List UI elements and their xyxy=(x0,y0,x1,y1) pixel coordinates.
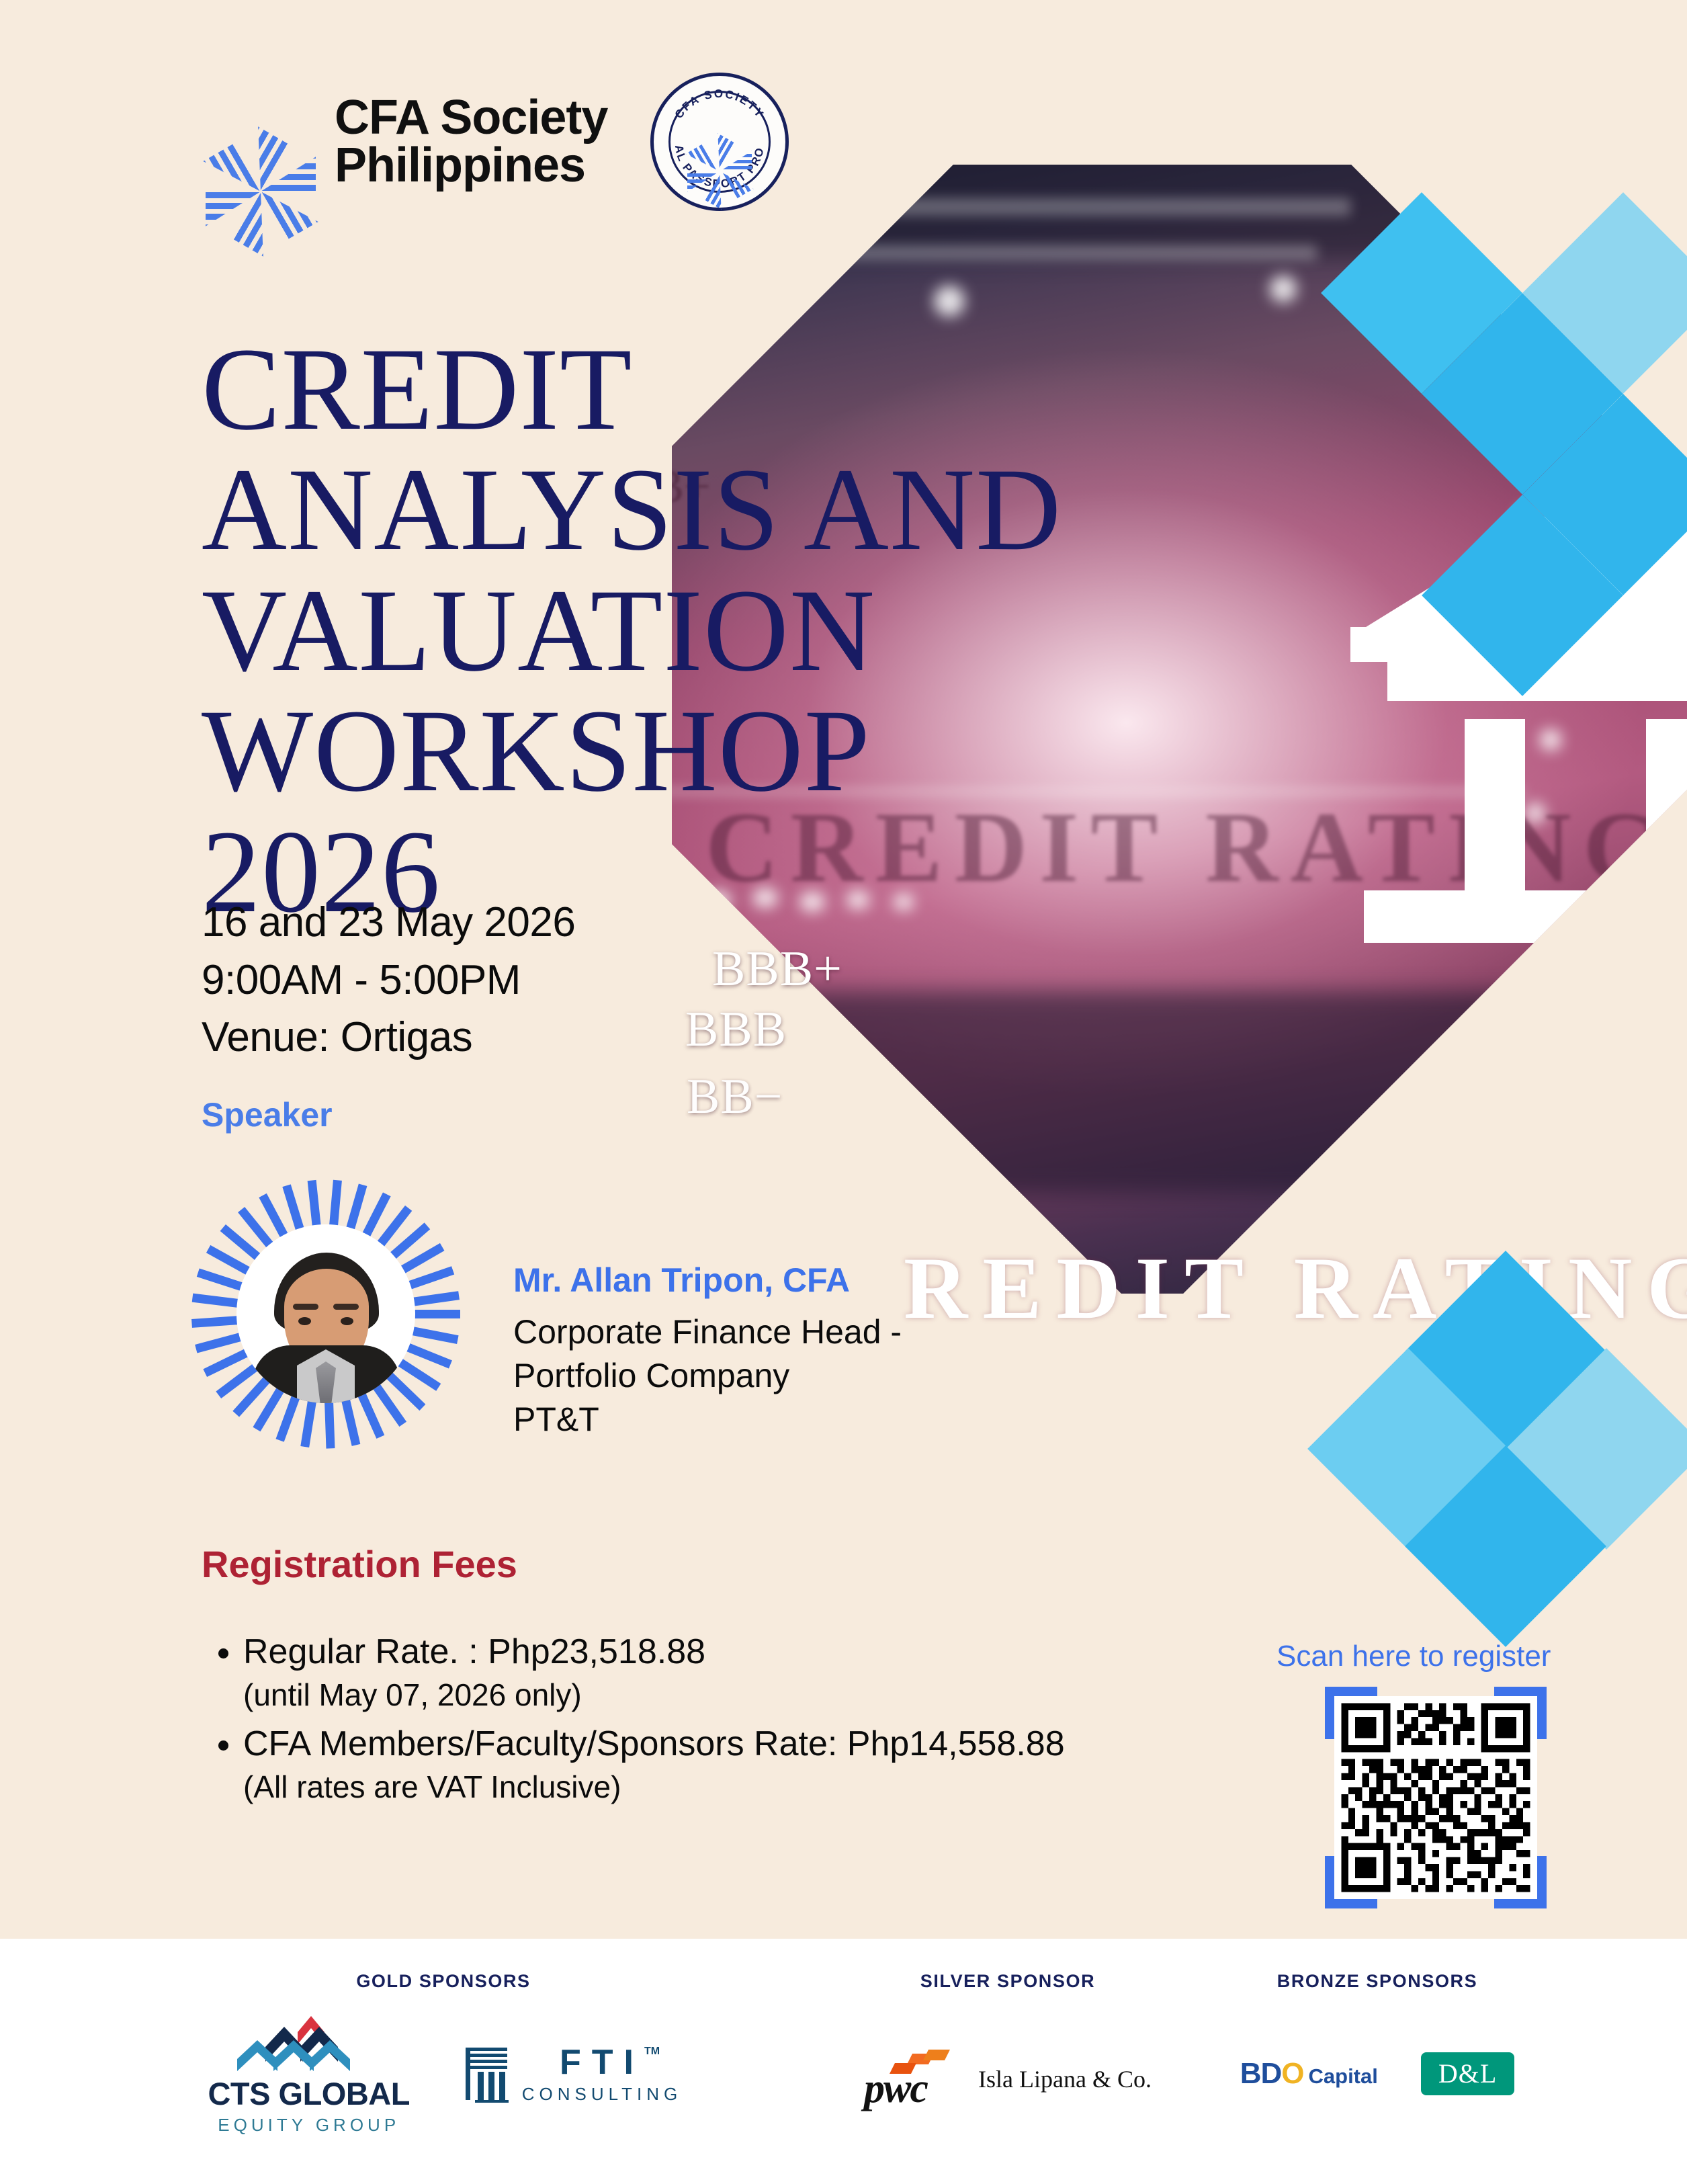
decor-diamond xyxy=(1422,293,1623,495)
blur-bar xyxy=(793,245,1317,260)
bank-column xyxy=(1646,719,1687,894)
credit-grade-bb-minus: BB− xyxy=(687,1068,783,1126)
decor-diamond xyxy=(1506,1348,1687,1550)
bank-column xyxy=(1465,719,1525,894)
pwc-wordmark: pwc xyxy=(864,2065,927,2113)
bank-icon xyxy=(1350,427,1687,816)
registration-fees-list: Regular Rate. : Php23,518.88 (until May … xyxy=(202,1630,1251,1814)
fti-subtitle: CONSULTING xyxy=(522,2085,683,2103)
bokeh-light xyxy=(934,286,965,317)
bokeh-light xyxy=(1270,276,1297,302)
sponsor-logo-dl: D&L xyxy=(1421,2052,1514,2095)
speaker-sunburst-icon xyxy=(195,1183,457,1445)
speaker-block: Mr. Allan Tripon, CFA Corporate Finance … xyxy=(195,1183,902,1445)
cfa-wordmark-line1: CFA Society xyxy=(335,94,607,142)
speaker-role-line2: Portfolio Company xyxy=(513,1354,902,1398)
poster-canvas: CREDIT RATING BBB+ BBB+ BBB BB− REDIT RA… xyxy=(0,0,1687,2184)
fti-name: FTITM xyxy=(522,2045,683,2080)
title-line-1: CREDIT xyxy=(202,329,1088,450)
avatar-eye-right xyxy=(341,1317,353,1325)
sponsors-footer: GOLD SPONSORS CTS GLOBAL xyxy=(0,1939,1687,2184)
bokeh-light xyxy=(1525,803,1545,823)
credit-grade-bbb-plus: BBB+ xyxy=(712,941,842,998)
bdo-bd-text: BD xyxy=(1240,2057,1282,2090)
decor-diamond xyxy=(1522,394,1687,595)
fti-trademark: TM xyxy=(644,2046,660,2057)
event-dates: 16 and 23 May 2026 xyxy=(202,894,575,952)
cfa-wordmark-line2: Philippines xyxy=(335,142,607,190)
bokeh-light xyxy=(1530,655,1551,675)
fee-item: CFA Members/Faculty/Sponsors Rate: Php14… xyxy=(243,1722,1251,1807)
event-details: 16 and 23 May 2026 9:00AM - 5:00PM Venue… xyxy=(202,894,575,1066)
page-title: CREDIT ANALYSIS AND VALUATION WORKSHOP 2… xyxy=(202,329,1088,933)
bank-architrave xyxy=(1387,662,1687,701)
avatar-brow-right xyxy=(333,1304,359,1310)
title-line-2: ANALYSIS AND xyxy=(202,450,1088,571)
global-passport-seal: CFA SOCIETY GLOBAL PASSPORT PROGRAM xyxy=(650,73,789,211)
cfa-pinwheel-icon xyxy=(202,83,320,201)
avatar-eye-left xyxy=(298,1317,311,1325)
registration-fees-title: Registration Fees xyxy=(202,1542,517,1586)
fti-name-text: FTI xyxy=(560,2043,644,2082)
qr-code-block[interactable] xyxy=(1325,1687,1547,1908)
bank-roof xyxy=(1364,427,1687,628)
decor-diamond xyxy=(1405,1445,1606,1647)
credit-rating-text: REDIT RATING xyxy=(904,1236,1687,1339)
bronze-sponsors-heading: BRONZE SPONSORS xyxy=(1142,1971,1612,1992)
speaker-name: Mr. Allan Tripon, CFA xyxy=(513,1261,902,1300)
cts-chevron-mark-icon xyxy=(225,2012,393,2072)
bank-lintel xyxy=(1350,627,1687,662)
decor-diamond xyxy=(1522,192,1687,394)
speaker-section-label: Speaker xyxy=(202,1095,333,1134)
cts-global-name: CTS GLOBAL xyxy=(205,2078,413,2109)
decor-diamond xyxy=(1321,192,1522,394)
pwc-isla-lipana-text: Isla Lipana & Co. xyxy=(978,2065,1152,2093)
sponsor-logo-cts-global: CTS GLOBAL EQUITY GROUP xyxy=(205,2012,413,2136)
credit-grade-bbb: BBB xyxy=(685,1001,787,1058)
speaker-avatar xyxy=(236,1224,415,1403)
qr-code-image[interactable] xyxy=(1334,1696,1537,1899)
gold-sponsors-heading: GOLD SPONSORS xyxy=(155,1971,732,1992)
sponsor-logo-fti-consulting: FTITM CONSULTING xyxy=(463,2045,683,2103)
blur-band xyxy=(544,991,1565,1193)
seal-pinwheel-icon xyxy=(685,107,754,177)
scan-to-register-label: Scan here to register xyxy=(1277,1640,1551,1673)
speaker-role-line1: Corporate Finance Head - xyxy=(513,1310,902,1354)
sponsor-logo-pwc: pwc Isla Lipana & Co. xyxy=(864,2048,1152,2110)
pwc-mark-icon: pwc xyxy=(864,2048,958,2110)
bronze-sponsors-group: BRONZE SPONSORS BDOCapital D&L xyxy=(1142,1939,1612,2095)
fee-sub: (until May 07, 2026 only) xyxy=(243,1675,1251,1716)
fee-main: CFA Members/Faculty/Sponsors Rate: Php14… xyxy=(243,1724,1065,1763)
blur-bar xyxy=(746,198,1350,216)
decor-diamond xyxy=(1307,1348,1509,1550)
sponsor-logo-bdo-capital: BDOCapital xyxy=(1240,2059,1378,2089)
speaker-role-line3: PT&T xyxy=(513,1398,902,1441)
fti-column-icon xyxy=(463,2045,513,2103)
bokeh-light xyxy=(1540,729,1561,751)
fee-item: Regular Rate. : Php23,518.88 (until May … xyxy=(243,1630,1251,1715)
bokeh-light xyxy=(1539,581,1559,601)
fee-sub: (All rates are VAT Inclusive) xyxy=(243,1767,1251,1808)
event-venue: Venue: Ortigas xyxy=(202,1009,575,1066)
bank-base xyxy=(1364,890,1687,943)
cfa-society-wordmark: CFA Society Philippines xyxy=(335,94,607,189)
cts-global-subtitle: EQUITY GROUP xyxy=(205,2115,413,2136)
bokeh-light xyxy=(1518,507,1541,530)
title-line-4: WORKSHOP xyxy=(202,691,1088,812)
fee-main: Regular Rate. : Php23,518.88 xyxy=(243,1632,705,1671)
speaker-info: Mr. Allan Tripon, CFA Corporate Finance … xyxy=(513,1261,902,1441)
title-line-3: VALUATION xyxy=(202,571,1088,691)
avatar-brow-left xyxy=(293,1304,318,1310)
decor-diamond xyxy=(1422,495,1623,696)
decor-diamond xyxy=(1405,1251,1606,1452)
bdo-o-text: O xyxy=(1281,2057,1304,2090)
header-logo-row: CFA Society Philippines CFA SOCIETY GLOB… xyxy=(202,73,789,211)
gold-sponsors-group: GOLD SPONSORS CTS GLOBAL xyxy=(155,1939,732,2136)
bdo-capital-text: Capital xyxy=(1309,2064,1378,2088)
event-time: 9:00AM - 5:00PM xyxy=(202,952,575,1009)
